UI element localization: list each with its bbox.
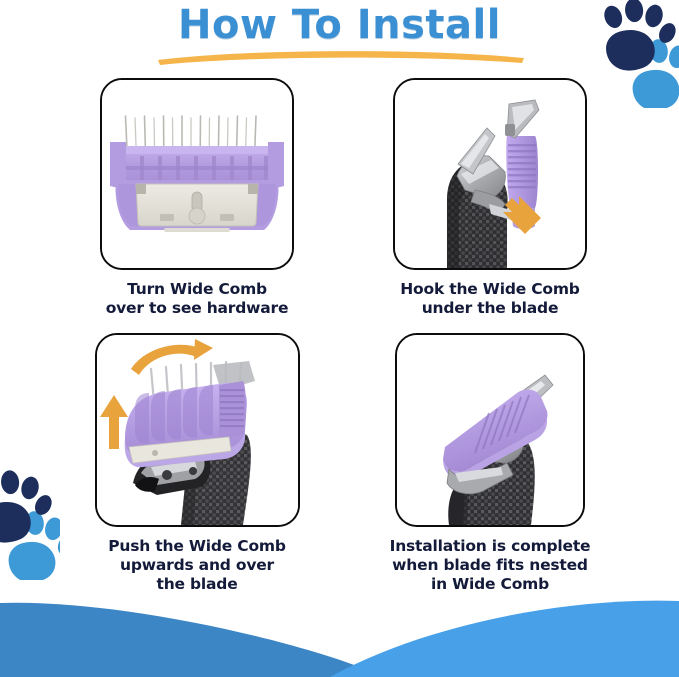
page-title-block: How To Install <box>0 2 679 48</box>
clipper-hook-comb-photo <box>395 80 585 268</box>
step-4-caption: Installation is complete when blade fits… <box>345 537 635 594</box>
footer-wave-decoration <box>0 587 679 677</box>
step-3-caption-line-2: upwards and over <box>52 556 342 575</box>
step-3-caption-line-1: Push the Wide Comb <box>52 537 342 556</box>
step-3-image-panel <box>95 333 300 527</box>
step-1-image-panel <box>100 78 294 270</box>
steps-grid: Turn Wide Comb over to see hardware <box>0 78 679 623</box>
step-1-caption-line-1: Turn Wide Comb <box>52 280 342 299</box>
step-4-caption-line-2: when blade fits nested <box>345 556 635 575</box>
step-2-image-panel <box>393 78 587 270</box>
step-card-3: Push the Wide Comb upwards and over the … <box>52 333 342 594</box>
step-card-4: Installation is complete when blade fits… <box>345 333 635 594</box>
page-title: How To Install <box>0 2 679 48</box>
title-underline-swoosh <box>156 47 526 67</box>
clipper-push-comb-photo <box>97 335 298 525</box>
step-4-caption-line-1: Installation is complete <box>345 537 635 556</box>
step-3-caption: Push the Wide Comb upwards and over the … <box>52 537 342 594</box>
step-2-caption-line-1: Hook the Wide Comb <box>345 280 635 299</box>
wide-comb-hardware-photo <box>102 80 292 268</box>
clipper-installed-comb-photo <box>397 335 583 525</box>
step-4-image-panel <box>395 333 585 527</box>
step-card-2: Hook the Wide Comb under the blade <box>345 78 635 318</box>
step-1-caption: Turn Wide Comb over to see hardware <box>52 280 342 318</box>
step-2-caption-line-2: under the blade <box>345 299 635 318</box>
step-1-caption-line-2: over to see hardware <box>52 299 342 318</box>
step-2-caption: Hook the Wide Comb under the blade <box>345 280 635 318</box>
infographic-page: How To Install <box>0 0 679 677</box>
step-card-1: Turn Wide Comb over to see hardware <box>52 78 342 318</box>
